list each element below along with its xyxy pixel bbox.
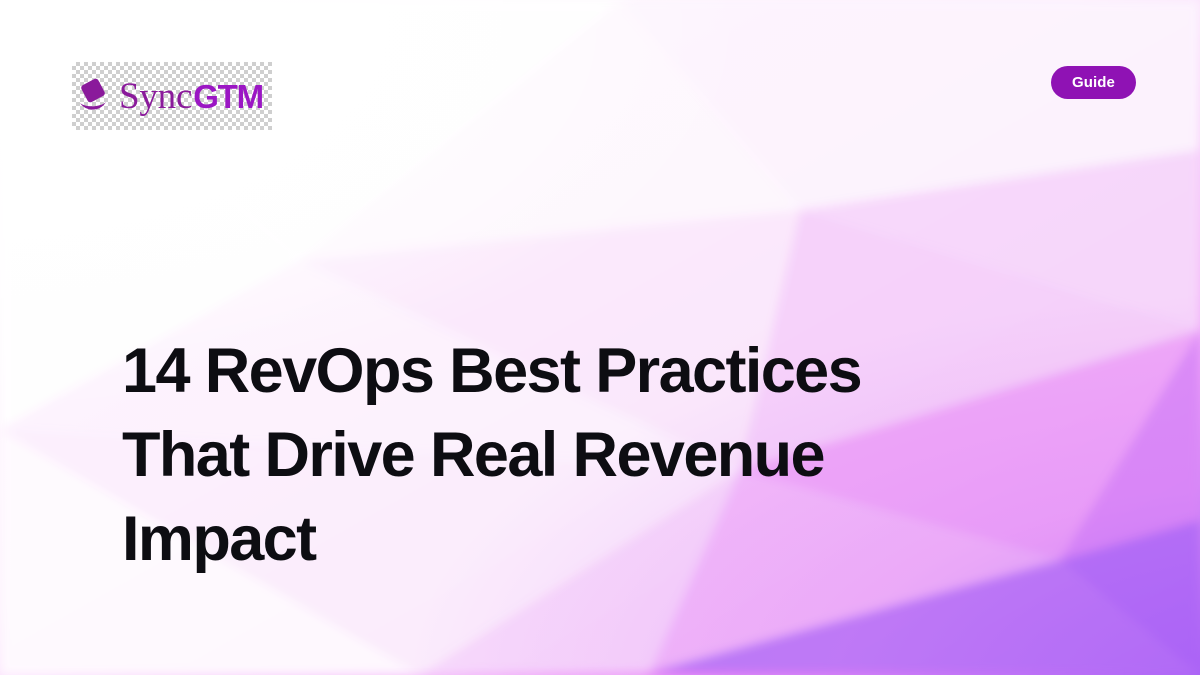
brand-wordmark: SyncGTM (119, 78, 263, 115)
page-title: 14 RevOps Best Practices That Drive Real… (122, 330, 1002, 581)
hero-card: SyncGTM Guide 14 RevOps Best Practices T… (0, 0, 1200, 675)
title-line-1: 14 RevOps Best Practices (122, 330, 1002, 414)
brand-word-gtm: GTM (193, 80, 263, 113)
brand-word-sync: Sync (119, 78, 192, 115)
content-type-badge[interactable]: Guide (1051, 66, 1136, 99)
brand-logo[interactable]: SyncGTM (72, 62, 272, 130)
diamond-swoosh-icon (76, 76, 110, 116)
title-line-2: That Drive Real Revenue (122, 414, 1002, 498)
badge-label: Guide (1072, 74, 1115, 91)
title-line-3: Impact (122, 498, 1002, 582)
